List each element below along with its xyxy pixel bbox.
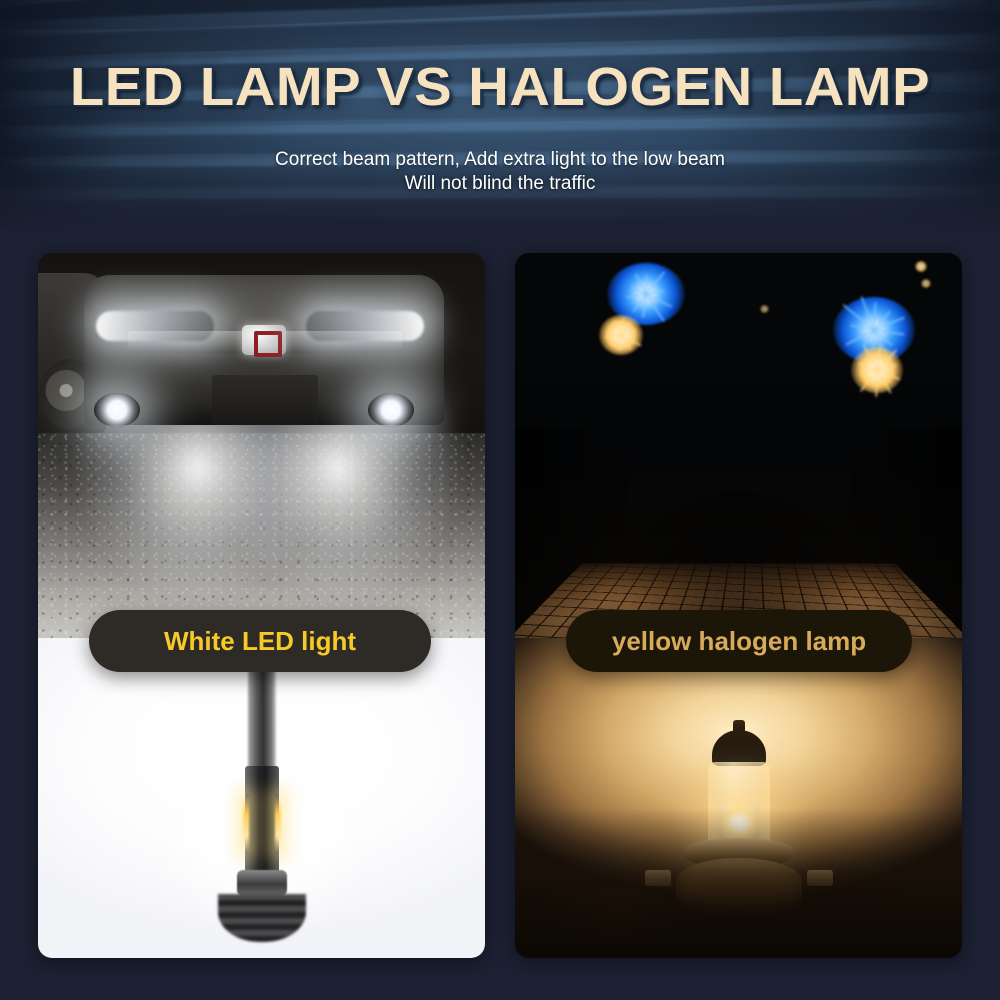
distant-light-icon-3 — [760, 305, 769, 313]
honda-emblem-icon — [242, 325, 286, 355]
license-plate-holder — [212, 375, 318, 425]
left-fog-lamp-icon — [94, 393, 140, 427]
halogen-label-badge: yellow halogen lamp — [566, 610, 912, 672]
right-fog-lamp-icon — [368, 393, 414, 427]
right-led-headlamp-icon — [306, 311, 424, 341]
led-bulb-photo — [38, 638, 485, 958]
led-bulb-neck — [237, 870, 287, 896]
wave-background — [0, 0, 1000, 236]
warm-halogen-light-left-icon — [599, 315, 643, 355]
subtitle-line-2: Will not blind the traffic — [0, 172, 1000, 196]
led-bulb-body — [245, 766, 279, 876]
halogen-comparison-panel — [515, 253, 962, 958]
wave-band — [0, 218, 1000, 236]
night-street-scene — [515, 253, 962, 638]
distant-light-icon — [915, 261, 927, 272]
led-bulb-base — [218, 894, 306, 942]
halogen-street-photo — [515, 253, 962, 638]
led-bulb-stem — [248, 660, 276, 780]
halogen-bulb-scene — [515, 638, 962, 958]
halogen-bulb-photo — [515, 638, 962, 958]
left-led-headlamp-icon — [96, 311, 214, 341]
halogen-label-text: yellow halogen lamp — [612, 626, 866, 657]
night-car-scene — [38, 253, 485, 638]
led-label-badge: White LED light — [89, 610, 431, 672]
led-bulb-scene — [38, 638, 485, 958]
led-comparison-panel — [38, 253, 485, 958]
warm-halogen-light-right-icon — [851, 347, 903, 393]
led-chip-left-icon — [243, 794, 249, 854]
header-banner — [0, 0, 1000, 236]
subtitle-line-1: Correct beam pattern, Add extra light to… — [0, 148, 1000, 172]
halogen-bulb-cap — [712, 730, 766, 766]
led-headlight-photo — [38, 253, 485, 638]
halogen-bottom-shadow — [515, 808, 962, 958]
led-label-text: White LED light — [164, 626, 356, 657]
distant-light-icon-2 — [921, 279, 931, 288]
page-title: LED LAMP VS HALOGEN LAMP — [0, 60, 1000, 114]
led-chip-right-icon — [275, 794, 281, 854]
infographic-page: LED LAMP VS HALOGEN LAMP Correct beam pa… — [0, 0, 1000, 1000]
